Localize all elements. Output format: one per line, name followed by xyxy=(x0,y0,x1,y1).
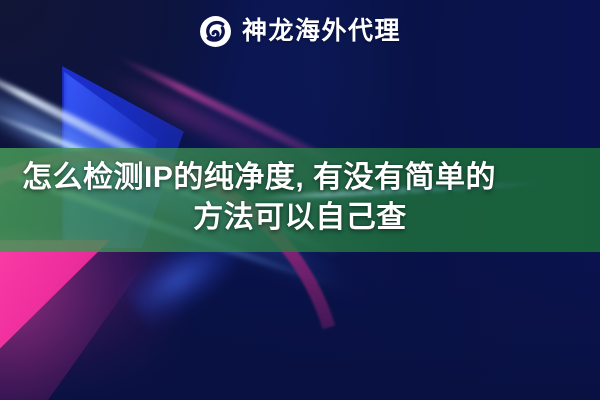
headline-line-1: 怎么检测IP的纯净度, 有没有简单的 xyxy=(22,158,578,198)
brand-logo-text: 神龙海外代理 xyxy=(242,19,401,44)
headline-line-2: 方法可以自己查 xyxy=(22,198,578,238)
spiral-swirl-icon xyxy=(199,15,232,48)
brand-logo[interactable]: 神龙海外代理 xyxy=(0,0,600,62)
promo-banner: 神龙海外代理 怎么检测IP的纯净度, 有没有简单的 方法可以自己查 xyxy=(0,0,600,400)
banner-headline: 怎么检测IP的纯净度, 有没有简单的 方法可以自己查 xyxy=(0,158,600,238)
